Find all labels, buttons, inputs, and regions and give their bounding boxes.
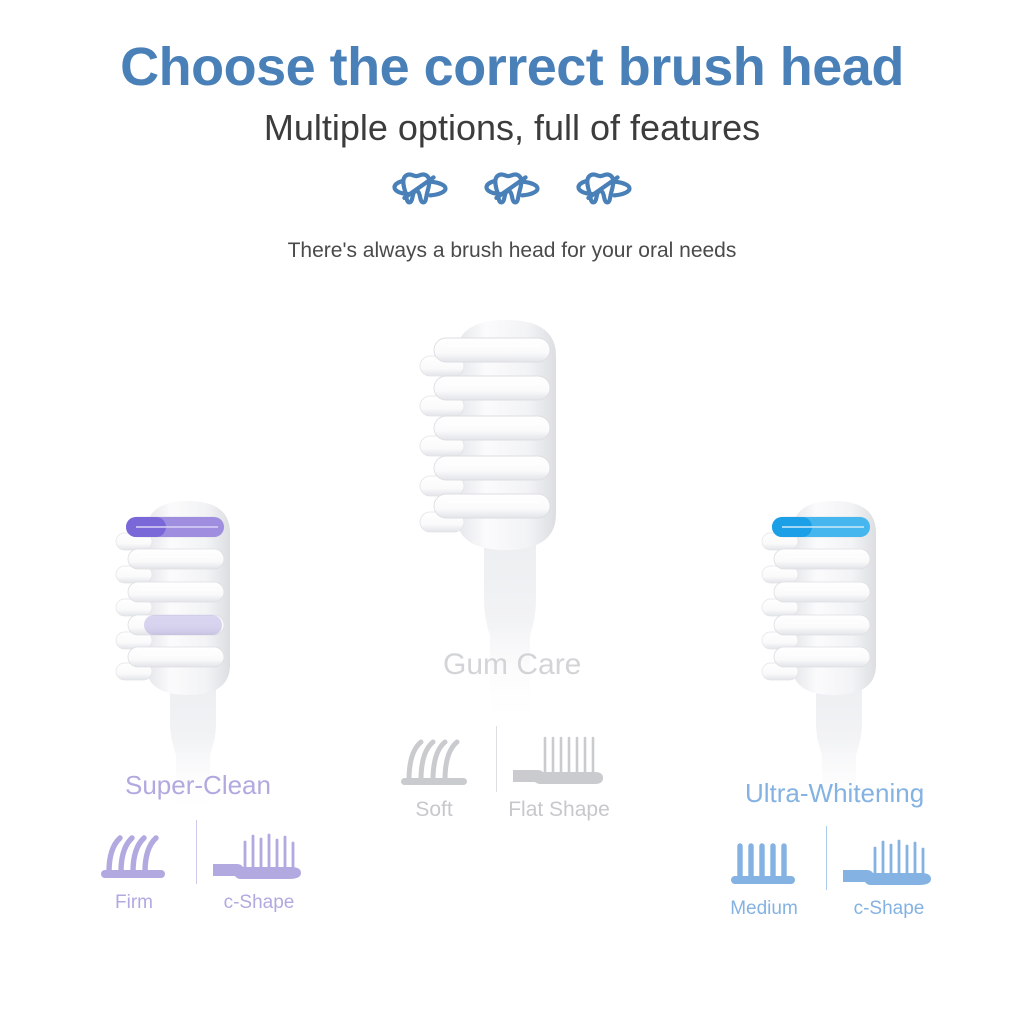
feature-c-shape: c-Shape <box>203 820 315 914</box>
brush-head-ultra-whitening <box>742 487 932 822</box>
product-stage: Gum Care Super-Clean Ultra-Whitening Sof… <box>0 0 1024 1024</box>
feature-group-super-clean: Firm c-Shape <box>78 820 315 914</box>
feature-group-ultra-whitening: Medium c-Shape <box>708 826 945 920</box>
accent-bristle-top <box>126 517 224 537</box>
brush-c-shape-icon <box>211 820 307 882</box>
feature-label: c-Shape <box>224 892 295 914</box>
feature-soft: Soft <box>378 726 490 822</box>
feature-divider <box>196 820 197 884</box>
feature-divider <box>826 826 827 890</box>
product-name-super-clean: Super-Clean <box>125 770 271 801</box>
bristle-medium-icon <box>727 826 801 888</box>
product-name-gum-care: Gum Care <box>443 648 581 682</box>
product-name-ultra-whitening: Ultra-Whitening <box>745 778 924 809</box>
bristle-firm-icon <box>97 820 171 882</box>
bristle-soft-icon <box>397 726 471 788</box>
feature-label: Soft <box>415 798 452 822</box>
accent-bristle-top <box>772 517 870 537</box>
feature-group-gum-care: Soft Flat Shape <box>378 726 615 822</box>
feature-flat-shape: Flat Shape <box>503 726 615 822</box>
feature-label: Flat Shape <box>508 798 610 822</box>
feature-firm: Firm <box>78 820 190 914</box>
brush-flat-shape-icon <box>511 726 607 788</box>
feature-divider <box>496 726 497 792</box>
feature-medium: Medium <box>708 826 820 920</box>
feature-c-shape: c-Shape <box>833 826 945 920</box>
feature-label: Firm <box>115 892 153 914</box>
feature-label: c-Shape <box>854 898 925 920</box>
feature-label: Medium <box>730 898 798 920</box>
brush-c-shape-icon <box>841 826 937 888</box>
